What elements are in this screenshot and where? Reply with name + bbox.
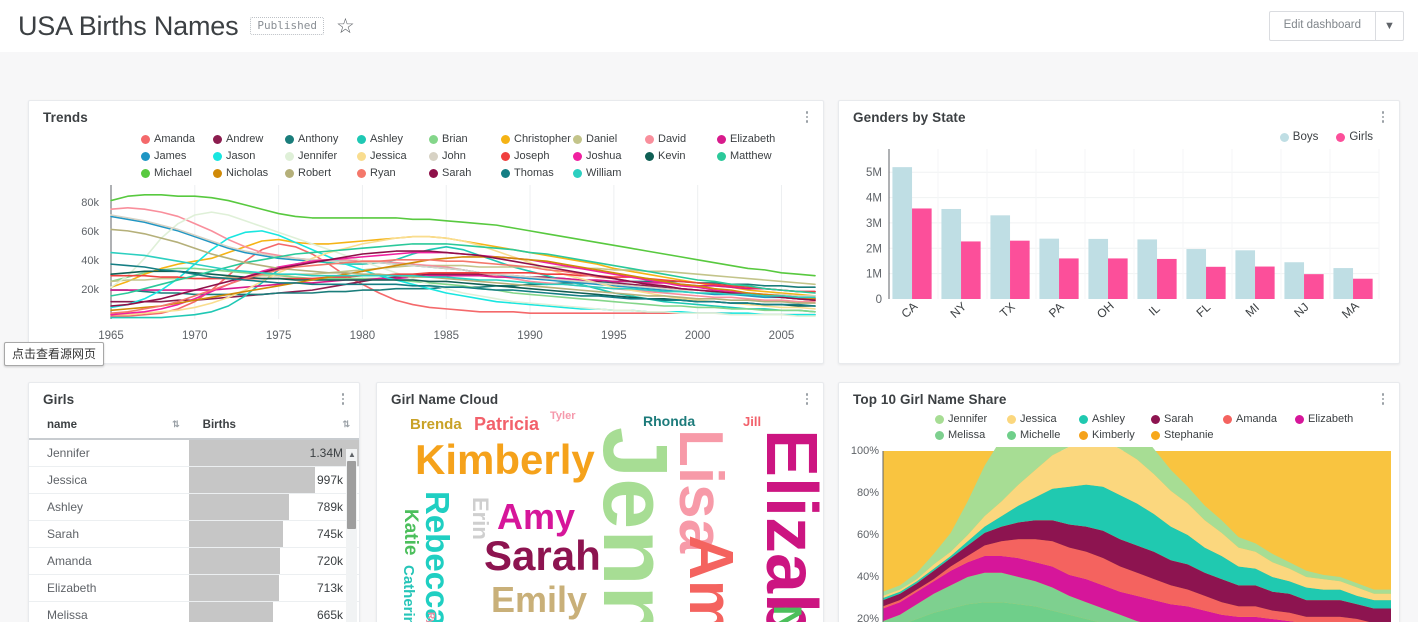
legend-label: Amanda: [1236, 413, 1277, 425]
legend-label: John: [442, 150, 466, 162]
data-bar-fill: [189, 548, 281, 574]
data-bar-wrap: 713k: [189, 575, 359, 601]
legend-color-dot: [645, 135, 654, 144]
data-bar-fill: [189, 575, 280, 601]
app-header: USA Births Names Published ☆ Edit dashbo…: [0, 0, 1418, 52]
table-row[interactable]: Elizabeth713k: [29, 575, 359, 602]
legend-label: Matthew: [730, 150, 772, 162]
x-axis-tick: NJ: [1291, 300, 1311, 320]
legend-color-dot: [1336, 133, 1345, 142]
legend-color-dot: [1007, 415, 1016, 424]
legend-item-jennifer[interactable]: Jennifer: [285, 150, 357, 162]
data-bar-value: 720k: [317, 548, 343, 574]
bar-tx-girls[interactable]: [1010, 241, 1030, 299]
share-y-axis: 20%40%60%80%100%: [839, 447, 883, 622]
legend-label: Boys: [1293, 131, 1319, 143]
legend-item-daniel[interactable]: Daniel: [573, 133, 645, 145]
kebab-menu-icon[interactable]: [337, 391, 349, 407]
trends-legend: AmandaAndrewAnthonyAshleyBrianChristophe…: [29, 125, 823, 179]
x-axis-tick: 1970: [182, 330, 208, 342]
table-row[interactable]: Ashley789k: [29, 494, 359, 521]
y-axis-tick: 20%: [857, 613, 879, 622]
legend-label: Christopher: [514, 133, 571, 145]
data-bar-wrap: 720k: [189, 548, 359, 574]
cell-name: Sarah: [29, 521, 189, 548]
data-bar-wrap: 745k: [189, 521, 359, 547]
x-axis-tick: PA: [1046, 300, 1067, 321]
legend-color-dot: [285, 169, 294, 178]
cell-name: Jessica: [29, 467, 189, 494]
legend-item-brian[interactable]: Brian: [429, 133, 501, 145]
legend-color-dot: [285, 152, 294, 161]
bar-ma-boys[interactable]: [1333, 268, 1353, 299]
legend-color-dot: [1007, 431, 1016, 440]
scroll-up-arrow-icon[interactable]: ▲: [348, 450, 356, 459]
legend-label: Joseph: [514, 150, 549, 162]
legend-color-dot: [213, 135, 222, 144]
cell-births: 713k: [189, 575, 359, 602]
bar-il-girls[interactable]: [1157, 259, 1177, 299]
y-axis-tick: 3M: [866, 218, 882, 230]
y-axis-tick: 100%: [851, 445, 879, 457]
bar-tx-boys[interactable]: [990, 215, 1010, 299]
column-label-name: name: [47, 419, 77, 431]
source-page-tooltip[interactable]: 点击查看源网页: [4, 342, 104, 366]
cell-births: 789k: [189, 494, 359, 521]
x-axis-tick: IL: [1146, 301, 1163, 318]
cloud-word-nicole[interactable]: Nicole: [767, 605, 807, 622]
header-actions: Edit dashboard ▼: [1269, 11, 1404, 41]
cell-births: 997k: [189, 467, 359, 494]
legend-item-jessica[interactable]: Jessica: [1007, 413, 1079, 425]
x-axis-tick: 2005: [769, 330, 795, 342]
y-axis-tick: 60%: [857, 529, 879, 541]
bar-pa-girls[interactable]: [1059, 258, 1079, 299]
share-area-chart: [839, 447, 1399, 622]
cloud-word-catherine[interactable]: Catherine: [401, 565, 416, 622]
legend-item-elizabeth[interactable]: Elizabeth: [717, 133, 789, 145]
y-axis-tick: 20k: [81, 284, 99, 296]
legend-label: Michelle: [1020, 429, 1060, 441]
cell-name: Melissa: [29, 602, 189, 622]
y-axis-tick: 40%: [857, 571, 879, 583]
legend-item-jennifer[interactable]: Jennifer: [935, 413, 1007, 425]
legend-item-melissa[interactable]: Melissa: [935, 429, 1007, 441]
girls-table-scrollbar[interactable]: ▲: [346, 449, 357, 622]
legend-label: Ashley: [1092, 413, 1125, 425]
data-bar-fill: [189, 494, 289, 520]
legend-label: Andrew: [226, 133, 263, 145]
cell-name: Ashley: [29, 494, 189, 521]
data-bar-value: 1.34M: [310, 440, 343, 466]
legend-color-dot: [285, 135, 294, 144]
cloud-word-rebecca[interactable]: Rebecca: [421, 491, 454, 622]
status-badge: Published: [250, 17, 324, 35]
edit-dashboard-button[interactable]: Edit dashboard: [1269, 11, 1376, 41]
legend-item-girls[interactable]: Girls: [1336, 131, 1373, 143]
card-trends: Trends AmandaAndrewAnthonyAshleyBrianChr…: [28, 100, 824, 364]
card-title-genders: Genders by State: [839, 101, 1399, 125]
legend-label: Ryan: [370, 167, 396, 179]
table-row[interactable]: Amanda720k: [29, 548, 359, 575]
data-bar-wrap: 1.34M: [189, 440, 359, 466]
data-bar-value: 713k: [317, 575, 343, 601]
legend-label: Daniel: [586, 133, 617, 145]
legend-color-dot: [717, 135, 726, 144]
legend-item-sarah[interactable]: Sarah: [429, 167, 501, 179]
legend-label: Amanda: [154, 133, 195, 145]
cell-births: 720k: [189, 548, 359, 575]
bar-ca-girls[interactable]: [912, 208, 932, 299]
sort-updown-icon[interactable]: ⇅: [172, 419, 179, 430]
legend-label: James: [154, 150, 186, 162]
card-genders-by-state: Genders by State BoysGirls 01M2M3M4M5MCA…: [838, 100, 1400, 364]
legend-label: Thomas: [514, 167, 554, 179]
bar-fl-girls[interactable]: [1206, 267, 1226, 299]
legend-color-dot: [573, 169, 582, 178]
card-girls-table: Girls name ⇅ Births ⇅ Jennifer1.34MJessi…: [28, 382, 360, 622]
cloud-word-emily[interactable]: Emily: [491, 582, 587, 618]
x-axis-tick: 1965: [98, 330, 124, 342]
legend-color-dot: [1079, 431, 1088, 440]
legend-label: Brian: [442, 133, 468, 145]
y-axis-tick: 4M: [866, 193, 882, 205]
x-axis-tick: 1985: [433, 330, 459, 342]
trends-line-chart: 196519701975198019851990199520002005: [29, 183, 824, 351]
x-axis-tick: FL: [1193, 300, 1213, 320]
table-row[interactable]: Jennifer1.34M: [29, 439, 359, 467]
legend-color-dot: [1280, 133, 1289, 142]
legend-item-michael[interactable]: Michael: [141, 167, 213, 179]
legend-item-ryan[interactable]: Ryan: [357, 167, 429, 179]
bar-il-boys[interactable]: [1137, 239, 1157, 299]
legend-label: David: [658, 133, 686, 145]
legend-item-christopher[interactable]: Christopher: [501, 133, 573, 145]
legend-color-dot: [357, 152, 366, 161]
legend-item-andrew[interactable]: Andrew: [213, 133, 285, 145]
cloud-word-amy[interactable]: Amy: [497, 499, 575, 535]
legend-label: Michael: [154, 167, 192, 179]
trends-y-axis: 20k40k60k80k: [29, 183, 105, 313]
legend-color-dot: [357, 169, 366, 178]
cloud-word-rhonda[interactable]: Rhonda: [643, 414, 695, 428]
data-bar-wrap: 789k: [189, 494, 359, 520]
bar-ca-boys[interactable]: [892, 167, 912, 299]
legend-item-joseph[interactable]: Joseph: [501, 150, 573, 162]
legend-item-elizabeth[interactable]: Elizabeth: [1295, 413, 1367, 425]
legend-color-dot: [1295, 415, 1304, 424]
legend-color-dot: [429, 169, 438, 178]
legend-color-dot: [141, 135, 150, 144]
legend-label: Kevin: [658, 150, 686, 162]
legend-color-dot: [501, 135, 510, 144]
card-title-trends: Trends: [29, 101, 823, 125]
trend-line-michael: [111, 195, 815, 276]
cloud-word-jill[interactable]: Jill: [743, 415, 761, 428]
legend-label: Jennifer: [298, 150, 337, 162]
page-title: USA Births Names: [18, 11, 238, 42]
cloud-word-kimberly[interactable]: Kimberly: [415, 439, 595, 481]
legend-item-william[interactable]: William: [573, 167, 645, 179]
legend-item-thomas[interactable]: Thomas: [501, 167, 573, 179]
girls-table: name ⇅ Births ⇅ Jennifer1.34MJessica997k…: [29, 413, 359, 622]
legend-color-dot: [935, 431, 944, 440]
column-label-births: Births: [203, 419, 236, 431]
cloud-word-tyler[interactable]: Tyler: [550, 411, 575, 422]
cloud-word-ryan[interactable]: Ryan: [425, 612, 435, 622]
bar-oh-girls[interactable]: [1108, 258, 1128, 299]
legend-item-michelle[interactable]: Michelle: [1007, 429, 1079, 441]
x-axis-tick: 1975: [266, 330, 292, 342]
y-axis-tick: 60k: [81, 226, 99, 238]
cloud-word-katie[interactable]: Katie: [401, 509, 420, 555]
legend-label: Elizabeth: [1308, 413, 1353, 425]
legend-label: Kimberly: [1092, 429, 1135, 441]
legend-item-anthony[interactable]: Anthony: [285, 133, 357, 145]
legend-label: Jessica: [1020, 413, 1057, 425]
legend-color-dot: [573, 152, 582, 161]
data-bar-value: 789k: [317, 494, 343, 520]
girls-table-body: Jennifer1.34MJessica997kAshley789kSarah7…: [29, 439, 359, 622]
y-axis-tick: 80%: [857, 487, 879, 499]
x-axis-tick: NY: [947, 299, 969, 321]
legend-item-sarah[interactable]: Sarah: [1151, 413, 1223, 425]
legend-label: Joshua: [586, 150, 621, 162]
legend-color-dot: [645, 152, 654, 161]
legend-color-dot: [213, 152, 222, 161]
legend-item-kimberly[interactable]: Kimberly: [1079, 429, 1151, 441]
legend-color-dot: [1151, 415, 1160, 424]
legend-color-dot: [429, 135, 438, 144]
legend-color-dot: [573, 135, 582, 144]
bar-nj-girls[interactable]: [1304, 274, 1324, 299]
card-title-cloud: Girl Name Cloud: [377, 383, 823, 407]
table-row[interactable]: Jessica997k: [29, 467, 359, 494]
legend-item-matthew[interactable]: Matthew: [717, 150, 789, 162]
x-axis-tick: OH: [1094, 299, 1117, 321]
legend-item-amanda[interactable]: Amanda: [141, 133, 213, 145]
legend-item-nicholas[interactable]: Nicholas: [213, 167, 285, 179]
legend-label: Robert: [298, 167, 331, 179]
cloud-word-amanda[interactable]: Amanda: [679, 535, 741, 622]
legend-label: Sarah: [1164, 413, 1193, 425]
legend-item-amanda[interactable]: Amanda: [1223, 413, 1295, 425]
cloud-word-brenda[interactable]: Brenda: [410, 417, 462, 432]
legend-color-dot: [717, 152, 726, 161]
bar-ny-girls[interactable]: [961, 241, 981, 299]
x-axis-tick: 1990: [517, 330, 543, 342]
word-cloud-area: BrendaPatriciaTylerRhondaJillKimberlyKat…: [377, 407, 823, 622]
legend-label: Jason: [226, 150, 255, 162]
bar-fl-boys[interactable]: [1186, 249, 1206, 299]
legend-label: Ashley: [370, 133, 403, 145]
bar-ny-boys[interactable]: [941, 209, 961, 299]
legend-label: Elizabeth: [730, 133, 775, 145]
trends-plot: 20k40k60k80k 196519701975198019851990199…: [29, 183, 823, 351]
legend-label: Melissa: [948, 429, 985, 441]
legend-label: Jennifer: [948, 413, 987, 425]
legend-item-robert[interactable]: Robert: [285, 167, 357, 179]
table-row[interactable]: Sarah745k: [29, 521, 359, 548]
card-top10-girl-name-share: Top 10 Girl Name Share JenniferJessicaAs…: [838, 382, 1400, 622]
legend-color-dot: [1151, 431, 1160, 440]
scrollbar-thumb[interactable]: [347, 461, 356, 529]
legend-color-dot: [141, 169, 150, 178]
dashboard-board: Trends AmandaAndrewAnthonyAshleyBrianChr…: [0, 52, 1418, 622]
y-axis-tick: 0: [876, 294, 882, 306]
legend-label: Stephanie: [1164, 429, 1214, 441]
legend-color-dot: [501, 169, 510, 178]
sort-updown-icon[interactable]: ⇅: [342, 419, 349, 430]
legend-item-ashley[interactable]: Ashley: [357, 133, 429, 145]
data-bar-fill: [189, 602, 274, 622]
legend-color-dot: [213, 169, 222, 178]
data-bar-value: 665k: [317, 602, 343, 622]
legend-label: Sarah: [442, 167, 471, 179]
cell-name: Amanda: [29, 548, 189, 575]
genders-legend: BoysGirls: [839, 125, 1399, 143]
legend-item-james[interactable]: James: [141, 150, 213, 162]
legend-label: William: [586, 167, 621, 179]
data-bar-fill: [189, 467, 316, 493]
legend-color-dot: [429, 152, 438, 161]
column-header-name[interactable]: name ⇅: [29, 413, 189, 439]
card-girl-name-cloud: Girl Name Cloud BrendaPatriciaTylerRhond…: [376, 382, 824, 622]
bar-nj-boys[interactable]: [1284, 262, 1304, 299]
cell-name: Elizabeth: [29, 575, 189, 602]
cell-births: 745k: [189, 521, 359, 548]
x-axis-tick: MI: [1243, 300, 1262, 319]
legend-label: Nicholas: [226, 167, 268, 179]
legend-color-dot: [1079, 415, 1088, 424]
legend-label: Girls: [1349, 131, 1373, 143]
data-bar-wrap: 665k: [189, 602, 359, 622]
legend-item-jason[interactable]: Jason: [213, 150, 285, 162]
x-axis-tick: MA: [1339, 299, 1362, 321]
bar-pa-boys[interactable]: [1039, 239, 1059, 299]
legend-item-ashley[interactable]: Ashley: [1079, 413, 1151, 425]
legend-item-david[interactable]: David: [645, 133, 717, 145]
legend-item-stephanie[interactable]: Stephanie: [1151, 429, 1223, 441]
x-axis-tick: CA: [898, 299, 920, 321]
cell-births: 665k: [189, 602, 359, 622]
y-axis-tick: 2M: [866, 243, 882, 255]
data-bar-value: 745k: [317, 521, 343, 547]
bar-mi-boys[interactable]: [1235, 250, 1255, 299]
legend-item-joshua[interactable]: Joshua: [573, 150, 645, 162]
y-axis-tick: 80k: [81, 197, 99, 209]
kebab-menu-icon[interactable]: [801, 109, 813, 125]
data-bar-fill: [189, 521, 284, 547]
x-axis-tick: TX: [997, 300, 1018, 321]
card-title-share: Top 10 Girl Name Share: [839, 383, 1399, 407]
kebab-menu-icon[interactable]: [801, 391, 813, 407]
data-bar-wrap: 997k: [189, 467, 359, 493]
legend-item-jessica[interactable]: Jessica: [357, 150, 429, 162]
share-legend: JenniferJessicaAshleySarahAmandaElizabet…: [839, 407, 1399, 441]
table-header-row: name ⇅ Births ⇅: [29, 413, 359, 439]
legend-label: Anthony: [298, 133, 338, 145]
x-axis-tick: 2000: [685, 330, 711, 342]
bar-oh-boys[interactable]: [1088, 239, 1108, 299]
legend-color-dot: [501, 152, 510, 161]
cell-births: 1.34M: [189, 439, 359, 467]
bar-mi-girls[interactable]: [1255, 267, 1275, 299]
cloud-word-elizabeth[interactable]: Elizabeth: [755, 429, 823, 622]
legend-item-kevin[interactable]: Kevin: [645, 150, 717, 162]
y-axis-tick: 1M: [866, 269, 882, 281]
cell-name: Jennifer: [29, 439, 189, 467]
x-axis-tick: 1995: [601, 330, 627, 342]
x-axis-tick: 1980: [350, 330, 376, 342]
share-plot: 20%40%60%80%100%: [839, 447, 1399, 622]
bar-ma-girls[interactable]: [1353, 279, 1373, 299]
legend-color-dot: [141, 152, 150, 161]
table-row[interactable]: Melissa665k: [29, 602, 359, 622]
y-axis-tick: 40k: [81, 255, 99, 267]
legend-color-dot: [1223, 415, 1232, 424]
data-bar-value: 997k: [317, 467, 343, 493]
legend-color-dot: [935, 415, 944, 424]
legend-item-boys[interactable]: Boys: [1280, 131, 1319, 143]
column-header-births[interactable]: Births ⇅: [189, 413, 359, 439]
legend-color-dot: [357, 135, 366, 144]
cloud-word-patricia[interactable]: Patricia: [474, 415, 539, 433]
y-axis-tick: 5M: [866, 167, 882, 179]
kebab-menu-icon[interactable]: [1377, 391, 1389, 407]
star-outline-icon[interactable]: ☆: [336, 16, 355, 37]
kebab-menu-icon[interactable]: [1377, 109, 1389, 125]
legend-label: Jessica: [370, 150, 407, 162]
legend-item-john[interactable]: John: [429, 150, 501, 162]
genders-bar-chart: 01M2M3M4M5MCANYTXPAOHILFLMINJMA: [839, 143, 1399, 348]
chevron-down-icon[interactable]: ▼: [1376, 11, 1404, 41]
card-title-girls: Girls: [29, 383, 359, 407]
